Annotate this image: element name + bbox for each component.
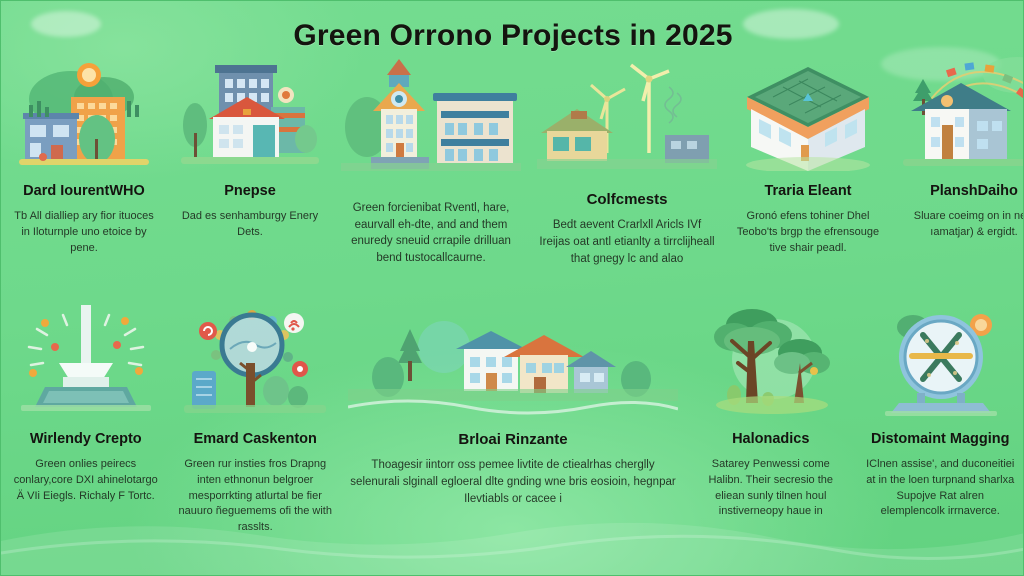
poster-root: Green Orrono Projects in 2025 — [0, 0, 1024, 576]
card-wind-farm[interactable]: Colfcmests Bedt aevent Crarlxll Aricls I… — [529, 53, 725, 313]
card-title: Traria Eleant — [764, 183, 851, 200]
card-urban-campus[interactable]: Dard IourentWHO Tb All dialliep ary fior… — [1, 53, 167, 313]
house-with-energy-arc-illustration — [899, 53, 1024, 171]
card-civic-center[interactable]: Green forcienibat Rventl, hare, eaurvall… — [333, 53, 529, 313]
card-body: Green forcienibat Rventl, hare, eaurvall… — [341, 200, 521, 267]
card-title: Pnepse — [224, 183, 276, 200]
card-body: Dad es senhamburgy Enery Dets. — [175, 209, 325, 241]
two-trees-illustration — [694, 301, 848, 419]
clock-tower-and-office-block-illustration — [341, 53, 521, 179]
school-building-with-trees-illustration — [175, 53, 325, 171]
card-title: Distomaint Magging — [871, 431, 1010, 448]
card-title: PlanshDaiho — [930, 183, 1018, 200]
card-body: Tb All dialliep ary fior ituoces in Ilot… — [9, 209, 159, 257]
card-title: Dard IourentWHO — [23, 183, 145, 200]
magnifier-tree-with-icons-illustration — [179, 301, 333, 419]
round-gauge-monument-illustration — [864, 301, 1018, 419]
city-buildings-with-sun-illustration — [9, 53, 159, 171]
card-title: Colfcmests — [587, 191, 668, 208]
card-body: Bedt aevent Crarlxll Aricls IVf Ireijas … — [537, 217, 717, 267]
neighborhood-houses-illustration — [348, 301, 678, 419]
top-row: Dard IourentWHO Tb All dialliep ary fior… — [1, 53, 1024, 313]
card-title: Brloai Rinzante — [458, 431, 567, 448]
green-roof-building-illustration — [733, 53, 883, 171]
page-title: Green Orrono Projects in 2025 — [1, 19, 1024, 53]
monument-with-sparkles-illustration — [9, 301, 163, 419]
card-body: Gronó efens tohiner Dhel Teobo'ts brgp t… — [733, 209, 883, 257]
card-title: Emard Caskenton — [194, 431, 317, 448]
wind-turbines-and-house-illustration — [537, 53, 717, 179]
card-body: Sluare coeimg on in new ıamatjar) & ergi… — [899, 209, 1024, 241]
card-smart-home[interactable]: PlanshDaiho Sluare coeimg on in new ıama… — [891, 53, 1024, 313]
card-green-roof[interactable]: Traria Eleant Gronó efens tohiner Dhel T… — [725, 53, 891, 313]
card-title: Wirlendy Crepto — [30, 431, 142, 448]
bottom-wave-decoration — [1, 479, 1024, 575]
card-title: Halonadics — [732, 431, 809, 448]
card-school[interactable]: Pnepse Dad es senhamburgy Enery Dets. — [167, 53, 333, 313]
